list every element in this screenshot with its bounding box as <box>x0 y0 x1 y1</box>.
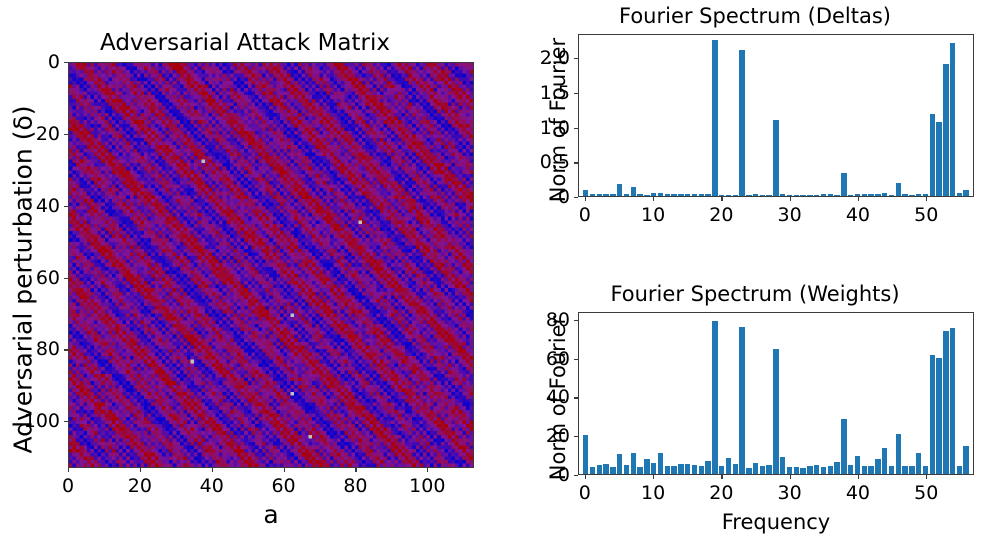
deltas-bar <box>875 194 880 196</box>
heatmap-y-tick-label: 100 <box>2 410 60 432</box>
deltas-plot-area <box>578 34 974 197</box>
weights-x-tick-mark <box>653 475 654 479</box>
weights-x-tick-mark <box>585 475 586 479</box>
deltas-bar <box>726 195 731 196</box>
weights-bar-series <box>579 313 973 474</box>
deltas-bar <box>834 195 839 196</box>
heatmap-y-tick-mark <box>64 206 68 207</box>
weights-bar <box>916 453 921 474</box>
weights-bar <box>957 466 962 474</box>
weights-y-tick-mark <box>574 475 578 476</box>
weights-bar <box>828 466 833 474</box>
heatmap-plot-area <box>68 62 474 468</box>
deltas-y-tick-mark <box>574 58 578 59</box>
deltas-bar <box>902 194 907 196</box>
deltas-x-tick-label: 0 <box>579 204 591 226</box>
weights-y-tick-label: 80 <box>482 309 570 331</box>
weights-bar <box>651 463 656 474</box>
deltas-bar <box>665 194 670 196</box>
weights-x-tick-mark <box>721 475 722 479</box>
weights-bar <box>692 465 697 474</box>
weights-bar <box>821 467 826 474</box>
deltas-bar <box>753 194 758 196</box>
deltas-x-tick-mark <box>585 197 586 201</box>
deltas-y-tick-label: 0 <box>482 186 570 208</box>
weights-bar <box>617 454 622 474</box>
weights-bar <box>834 462 839 474</box>
weights-bar <box>733 464 738 474</box>
weights-bar <box>848 465 853 474</box>
deltas-bar <box>923 194 928 196</box>
weights-bar <box>644 459 649 474</box>
heatmap-y-tick-mark <box>64 134 68 135</box>
heatmap-x-tick-mark <box>355 468 356 472</box>
weights-bar <box>943 331 948 474</box>
deltas-y-tick-label: 1.5 <box>482 82 570 104</box>
deltas-bar <box>597 194 602 196</box>
weights-bar <box>909 466 914 474</box>
deltas-bar <box>848 195 853 196</box>
deltas-bar <box>603 194 608 196</box>
weights-bar <box>665 466 670 474</box>
deltas-bar <box>787 195 792 196</box>
weights-bar <box>746 468 751 474</box>
heatmap-y-tick-label: 40 <box>2 195 60 217</box>
weights-x-tick-label: 30 <box>778 482 802 504</box>
deltas-bar <box>780 194 785 196</box>
deltas-bar <box>624 194 629 196</box>
weights-bar <box>773 349 778 474</box>
adversarial-attack-matrix-panel: Adversarial Attack Matrix Adversarial pe… <box>0 0 500 545</box>
deltas-bar <box>637 194 642 196</box>
weights-bar <box>753 463 758 474</box>
deltas-x-tick-label: 10 <box>641 204 665 226</box>
deltas-bar <box>800 195 805 196</box>
deltas-bar <box>957 193 962 196</box>
deltas-bar <box>889 195 894 196</box>
deltas-y-tick-label: 2.0 <box>482 47 570 69</box>
deltas-y-tick-mark <box>574 128 578 129</box>
deltas-bar <box>671 194 676 196</box>
weights-bar <box>583 435 588 474</box>
weights-bar <box>930 355 935 474</box>
weights-x-tick-label: 50 <box>914 482 938 504</box>
weights-x-tick-mark <box>926 475 927 479</box>
weights-y-tick-mark <box>574 359 578 360</box>
weights-bar <box>603 464 608 474</box>
weights-bar <box>590 467 595 474</box>
weights-y-tick-label: 20 <box>482 425 570 447</box>
heatmap-x-tick-mark <box>284 468 285 472</box>
weights-bar <box>794 467 799 474</box>
heatmap-y-tick-label: 60 <box>2 267 60 289</box>
weights-bar <box>787 467 792 474</box>
weights-bar <box>719 466 724 474</box>
weights-y-tick-label: 0 <box>482 464 570 486</box>
deltas-bar <box>950 43 955 196</box>
weights-bar <box>624 465 629 474</box>
weights-bar <box>896 434 901 474</box>
weights-bar <box>950 328 955 474</box>
weights-bar <box>678 464 683 474</box>
deltas-bar <box>936 122 941 196</box>
weights-bar <box>862 466 867 474</box>
deltas-bar <box>930 114 935 196</box>
weights-bar <box>658 453 663 474</box>
heatmap-y-tick-mark <box>64 278 68 279</box>
weights-plot-area <box>578 312 974 475</box>
deltas-x-tick-mark <box>721 197 722 201</box>
weights-y-tick-mark <box>574 320 578 321</box>
weights-title: Fourier Spectrum (Weights) <box>530 282 980 306</box>
deltas-y-tick-mark <box>574 162 578 163</box>
heatmap-x-tick-label: 80 <box>343 475 367 497</box>
deltas-x-tick-mark <box>858 197 859 201</box>
deltas-bar <box>678 194 683 196</box>
weights-y-tick-label: 60 <box>482 348 570 370</box>
weights-y-tick-label: 40 <box>482 386 570 408</box>
deltas-bar <box>760 195 765 196</box>
heatmap-y-tick-mark <box>64 349 68 350</box>
heatmap-x-tick-label: 40 <box>200 475 224 497</box>
deltas-x-tick-label: 20 <box>709 204 733 226</box>
deltas-y-tick-mark <box>574 197 578 198</box>
heatmap-x-axis-label: a <box>68 500 474 529</box>
deltas-bar <box>685 194 690 196</box>
heatmap-x-tick-mark <box>427 468 428 472</box>
deltas-bar <box>699 194 704 196</box>
weights-bar <box>923 466 928 474</box>
weights-bar <box>610 467 615 474</box>
weights-bar <box>685 464 690 474</box>
weights-bar <box>814 465 819 474</box>
deltas-bar <box>712 40 717 196</box>
weights-bar <box>963 446 968 474</box>
deltas-bar <box>644 195 649 196</box>
weights-x-tick-mark <box>858 475 859 479</box>
weights-x-tick-label: 20 <box>709 482 733 504</box>
deltas-bar <box>862 194 867 196</box>
weights-bar <box>807 466 812 474</box>
deltas-y-tick-mark <box>574 93 578 94</box>
deltas-bar <box>733 195 738 196</box>
weights-x-axis-label: Frequency <box>578 510 974 534</box>
heatmap-y-tick-label: 0 <box>2 51 60 73</box>
deltas-bar <box>814 195 819 196</box>
weights-y-tick-mark <box>574 397 578 398</box>
heatmap-x-tick-mark <box>140 468 141 472</box>
weights-x-tick-mark <box>790 475 791 479</box>
weights-bar <box>726 458 731 474</box>
heatmap-image <box>69 63 473 467</box>
weights-y-tick-mark <box>574 436 578 437</box>
weights-bar <box>699 466 704 474</box>
deltas-bar <box>882 193 887 196</box>
heatmap-x-tick-mark <box>212 468 213 472</box>
deltas-bar <box>841 173 846 196</box>
weights-bar <box>712 321 717 474</box>
weights-x-tick-label: 0 <box>579 482 591 504</box>
weights-bar <box>705 461 710 474</box>
deltas-bar-series <box>579 35 973 196</box>
weights-bar <box>841 419 846 474</box>
weights-bar <box>936 358 941 474</box>
deltas-bar <box>909 195 914 196</box>
heatmap-y-tick-mark <box>64 421 68 422</box>
deltas-bar <box>868 194 873 196</box>
deltas-x-tick-label: 50 <box>914 204 938 226</box>
deltas-x-tick-label: 40 <box>846 204 870 226</box>
heatmap-x-tick-mark <box>68 468 69 472</box>
weights-bar <box>902 466 907 474</box>
deltas-bar <box>943 64 948 196</box>
deltas-x-tick-label: 30 <box>778 204 802 226</box>
deltas-bar <box>855 194 860 196</box>
weights-bar <box>637 467 642 474</box>
heatmap-x-tick-label: 0 <box>62 475 74 497</box>
deltas-bar <box>821 194 826 196</box>
deltas-bar <box>746 195 751 196</box>
deltas-bar <box>773 120 778 196</box>
deltas-title: Fourier Spectrum (Deltas) <box>530 4 980 28</box>
weights-bar <box>766 465 771 474</box>
heatmap-x-tick-label: 100 <box>409 475 445 497</box>
weights-bar <box>739 327 744 474</box>
deltas-bar <box>610 194 615 196</box>
deltas-x-tick-mark <box>790 197 791 201</box>
deltas-x-tick-mark <box>926 197 927 201</box>
deltas-bar <box>963 190 968 196</box>
weights-bar <box>875 459 880 474</box>
deltas-bar <box>583 190 588 196</box>
heatmap-x-tick-label: 60 <box>271 475 295 497</box>
deltas-bar <box>896 183 901 196</box>
fourier-spectrum-weights-panel: Fourier Spectrum (Weights) Norm of Fouri… <box>500 270 996 545</box>
deltas-bar <box>651 193 656 196</box>
deltas-x-tick-mark <box>653 197 654 201</box>
heatmap-y-tick-mark <box>64 62 68 63</box>
heatmap-y-tick-label: 20 <box>2 123 60 145</box>
deltas-bar <box>794 195 799 196</box>
deltas-y-tick-label: 1.0 <box>482 117 570 139</box>
weights-x-tick-label: 40 <box>846 482 870 504</box>
fourier-spectrum-deltas-panel: Fourier Spectrum (Deltas) Norm of Fourie… <box>500 0 996 270</box>
deltas-bar <box>617 184 622 196</box>
weights-bar <box>882 448 887 474</box>
deltas-bar <box>658 193 663 196</box>
weights-bar <box>855 456 860 474</box>
deltas-bar <box>692 194 697 196</box>
weights-bar <box>889 466 894 474</box>
heatmap-y-tick-label: 80 <box>2 338 60 360</box>
deltas-y-tick-label: 0.5 <box>482 151 570 173</box>
weights-bar <box>780 457 785 474</box>
weights-bar <box>631 453 636 474</box>
weights-x-tick-label: 10 <box>641 482 665 504</box>
heatmap-title: Adversarial Attack Matrix <box>0 30 490 56</box>
weights-bar <box>800 468 805 474</box>
deltas-bar <box>766 195 771 196</box>
weights-bar <box>671 466 676 474</box>
weights-bar <box>760 466 765 474</box>
weights-bar <box>868 466 873 474</box>
deltas-bar <box>705 194 710 196</box>
weights-bar <box>597 465 602 474</box>
deltas-bar <box>739 50 744 196</box>
deltas-bar <box>631 187 636 196</box>
deltas-bar <box>916 194 921 196</box>
deltas-bar <box>590 194 595 196</box>
heatmap-x-tick-label: 20 <box>128 475 152 497</box>
deltas-bar <box>719 195 724 196</box>
deltas-bar <box>828 194 833 196</box>
deltas-bar <box>807 195 812 196</box>
